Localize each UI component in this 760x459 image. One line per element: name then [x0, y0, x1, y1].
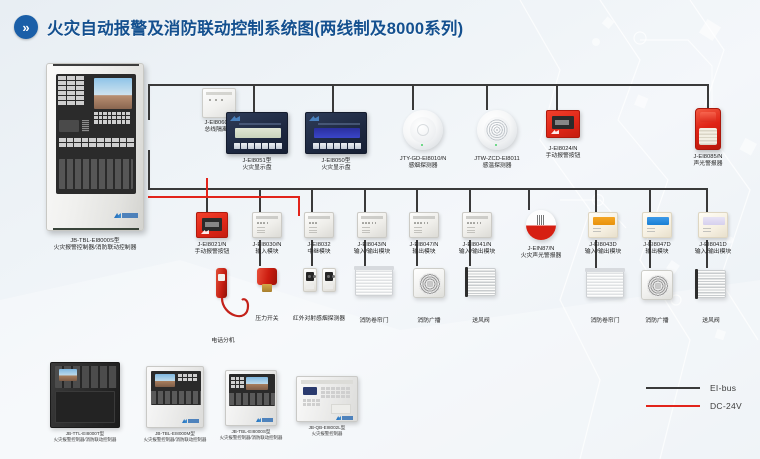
legend-line-bus	[646, 387, 700, 389]
legend-line-power	[646, 405, 700, 407]
brand-wordmark	[122, 213, 138, 218]
wall-panel-keys[interactable]	[321, 387, 350, 398]
device-name: 消防卷帘门	[591, 318, 620, 325]
printer-slot	[59, 120, 79, 132]
device-name: 输入/输出模块	[695, 249, 731, 256]
device-io-module-8041[interactable]: J-EI8041/N 输入/输出模块	[454, 212, 500, 256]
bottom-panel-qb-8002l[interactable]: JB-QB-EI8002L型 火灾报警控制器	[288, 376, 366, 436]
device-broadcast-speaker-2[interactable]: 消防广播	[634, 270, 680, 325]
device-manual-call-point-8021[interactable]: J-EI8021/N 手动报警按钮	[189, 212, 235, 256]
device-heat-detector[interactable]: JTW-ZCD-EI8011 感温探测器	[462, 110, 532, 170]
mod-drop-9	[649, 188, 651, 212]
brand-logo	[256, 418, 273, 422]
power-trunk	[148, 196, 298, 198]
device-name: 消防卷帘门	[360, 318, 389, 325]
bottom-panel-ttl-8000t[interactable]: JB-TTL-EI8000T型 火灾报警控制器/消防联动控制器	[46, 362, 124, 442]
device-broadcast-speaker-1[interactable]: 消防广播	[406, 268, 452, 325]
device-io-module-8043[interactable]: J-EI8043/N 输入/输出模块	[349, 212, 395, 256]
output-module-icon	[409, 212, 439, 238]
bottom-panel-tbl-8000s[interactable]: JB-TBL-EI8000S型 火灾报警控制器/消防联动控制器	[212, 370, 290, 440]
console-lcd	[59, 369, 77, 381]
wall-panel-header	[301, 380, 353, 384]
rolling-shutter-icon	[586, 270, 624, 298]
device-name: 感温探测器	[474, 163, 520, 170]
panel-face	[56, 74, 136, 194]
heat-detector-icon	[477, 110, 517, 150]
bus-trunk-mid	[148, 188, 708, 190]
device-name: 火灾显示盘	[243, 165, 272, 172]
cabinet-rack	[151, 391, 201, 404]
bus-drop-4	[486, 84, 488, 110]
device-name: 输出模块	[643, 249, 670, 256]
cabinet-keys[interactable]	[231, 377, 244, 388]
device-name: 输入/输出模块	[354, 249, 390, 256]
panel-name: 火灾报警控制器	[309, 431, 346, 437]
device-name: 火灾显示盘	[322, 165, 351, 172]
bus-drop-5	[556, 84, 558, 110]
legend-item-ei-bus: EI-bus	[646, 383, 742, 393]
sounder-strobe-icon	[695, 108, 721, 150]
speaker-grill	[82, 120, 89, 132]
telephone-handset-icon	[216, 268, 230, 312]
air-valve-icon	[696, 270, 726, 298]
device-sounder-strobe-8085[interactable]: J-EI8085/N 声光警报器	[680, 108, 736, 168]
panel-base-trim	[53, 228, 139, 231]
annunciator-icon	[226, 112, 288, 154]
brand-wordmark	[262, 418, 273, 422]
speaker-icon	[641, 270, 673, 300]
brand-mark-icon	[256, 418, 261, 422]
device-io-module-8041d[interactable]: J-EI8041D 输入/输出模块	[688, 212, 738, 256]
device-name: 感烟探测器	[400, 163, 447, 170]
device-name: 送风阀	[472, 318, 489, 325]
mod-drop-2	[259, 188, 261, 212]
panel-name: 火灾报警控制器/消防联动控制器	[144, 437, 207, 443]
device-rolling-shutter-1[interactable]: 消防卷帘门	[348, 268, 400, 325]
power-drop-mcp	[206, 178, 208, 196]
device-name: 输出模块	[410, 249, 439, 256]
main-control-panel[interactable]: JB-TBL-EI8000S型 火灾报警控制器/消防联动控制器	[46, 63, 144, 233]
chevron-double-right-icon: »	[14, 15, 38, 39]
bus-trunk-top-right	[556, 84, 708, 86]
input-module-icon	[252, 212, 282, 238]
rolling-shutter-icon	[355, 268, 393, 296]
mod-drop-6	[469, 188, 471, 212]
bus-drop-2	[332, 84, 334, 112]
panel-name: 火灾报警控制器/消防联动控制器	[54, 437, 117, 443]
device-name: 压力开关	[255, 316, 278, 323]
annunciator-keys[interactable]	[234, 143, 282, 149]
panel-top-trim	[53, 63, 139, 66]
bus-riser-left	[148, 150, 150, 190]
floor-console-icon	[50, 362, 120, 428]
brand-logo	[114, 213, 138, 218]
panel-model: JB-QB-EI8002L型	[309, 425, 346, 431]
zone-led-matrix	[59, 138, 134, 147]
io-module-icon	[357, 212, 387, 238]
cabinet-keys[interactable]	[178, 374, 197, 381]
pressure-switch-icon	[257, 268, 277, 294]
legend-label: EI-bus	[710, 383, 736, 393]
device-name: 送风阀	[702, 318, 719, 325]
device-name: 声光警报器	[694, 161, 723, 168]
main-panel-caption: JB-TBL-EI8000S型 火灾报警控制器/消防联动控制器	[46, 238, 144, 252]
brand-wordmark	[342, 416, 353, 420]
device-smoke-detector[interactable]: JTY-GD-EI8010/N 感烟探测器	[388, 110, 458, 170]
device-name: 消防广播	[645, 318, 668, 325]
manual-call-point-icon	[546, 110, 580, 138]
device-name: 消防广播	[417, 318, 440, 325]
wall-panel-lcd	[303, 387, 317, 395]
brand-mark-icon	[114, 213, 121, 218]
device-name: 手动报警按钮	[195, 249, 230, 256]
brand-logo	[182, 419, 199, 423]
device-name: 输入模块	[253, 249, 282, 256]
air-valve-icon	[466, 268, 496, 296]
legend: EI-bus DC-24V	[646, 383, 742, 411]
brand-logo	[336, 416, 353, 420]
device-name: 输入/输出模块	[459, 249, 495, 256]
left-key-matrix[interactable]	[58, 76, 84, 105]
bus-drop-6	[707, 84, 709, 108]
brand-wordmark	[188, 419, 199, 423]
annunciator-display	[314, 128, 360, 138]
device-name: 手动报警按钮	[546, 153, 581, 160]
device-manual-call-point-8024[interactable]: J-EI8024/N 手动报警按钮	[532, 110, 594, 160]
device-name: 红外对射感烟探测器	[293, 316, 345, 323]
cabinet-panel-icon	[146, 366, 204, 428]
wall-panel-blank	[331, 404, 351, 414]
mod-drop-10	[706, 188, 708, 212]
io-module-d-icon	[698, 212, 728, 238]
bus-drop-panel	[148, 84, 150, 120]
device-dome-alarm-ein87[interactable]: J-EIN87/N 火灾声光警报器	[510, 210, 572, 260]
cabinet-lcd	[246, 377, 268, 390]
device-name: 电话分机	[211, 338, 234, 345]
bus-drop-1	[253, 84, 255, 112]
wall-panel-zone-keys[interactable]	[303, 399, 320, 406]
device-output-module-8047d[interactable]: J-EI8047D 输出模块	[632, 212, 682, 256]
cabinet-lcd	[155, 374, 175, 387]
io-module-icon	[462, 212, 492, 238]
wall-panel-icon	[296, 376, 358, 422]
annunciator-icon	[305, 112, 367, 154]
cabinet-rack	[229, 393, 275, 405]
mod-drop-8	[595, 188, 597, 212]
speaker-icon	[413, 268, 445, 298]
legend-label: DC-24V	[710, 401, 742, 411]
panel-enclosure	[46, 63, 144, 231]
device-name: 中继模块	[307, 249, 330, 256]
annunciator-keys[interactable]	[313, 143, 361, 149]
device-annunciator-8050[interactable]: J-EI8050型 火灾显示盘	[301, 112, 371, 172]
output-module-d-icon	[642, 212, 672, 238]
device-name: 输入/输出模块	[585, 249, 621, 256]
device-telephone-extension[interactable]: 电话分机	[196, 268, 250, 345]
dome-alarm-icon	[526, 210, 556, 240]
io-module-d-icon	[588, 212, 618, 238]
device-io-module-8043d[interactable]: J-EI8043D 输入/输出模块	[578, 212, 628, 256]
legend-item-dc24v: DC-24V	[646, 401, 742, 411]
device-name: 火灾声光警报器	[521, 253, 562, 260]
console-door	[55, 391, 115, 423]
device-pressure-switch[interactable]: 压力开关	[244, 268, 290, 323]
keypad-matrix[interactable]	[94, 112, 130, 124]
device-output-module-8047[interactable]: J-EI8047/N 输出模块	[401, 212, 447, 256]
smoke-detector-icon	[403, 110, 443, 150]
beam-detector-icon	[303, 268, 336, 292]
bottom-panel-tbl-8000m[interactable]: JB-TBL-EI8000M型 火灾报警控制器/消防联动控制器	[136, 366, 214, 442]
page-header: » 火灾自动报警及消防联动控制系统图(两线制及8000系列)	[0, 10, 463, 44]
mod-drop-3	[311, 188, 313, 212]
brand-mark-icon	[182, 419, 187, 423]
device-input-module-8030[interactable]: J-EI8030/N 输入模块	[244, 212, 290, 256]
cabinet-panel-icon	[225, 370, 277, 426]
loop-card-rack	[59, 159, 133, 189]
mod-drop-4	[364, 188, 366, 212]
panel-lcd-display	[94, 78, 132, 109]
device-annunciator-8051[interactable]: J-EI8051型 火灾显示盘	[222, 112, 292, 172]
bus-drop-3	[412, 84, 414, 110]
annunciator-display	[235, 128, 281, 138]
mod-drop-5	[416, 188, 418, 212]
device-beam-detector[interactable]: 红外对射感烟探测器	[290, 268, 348, 323]
manual-call-point-icon	[196, 212, 228, 238]
page-title: 火灾自动报警及消防联动控制系统图(两线制及8000系列)	[47, 15, 463, 39]
relay-module-icon	[304, 212, 334, 238]
panel-name: 火灾报警控制器/消防联动控制器	[220, 435, 283, 441]
device-air-valve-1[interactable]: 送风阀	[460, 268, 502, 325]
main-panel-name: 火灾报警控制器/消防联动控制器	[46, 245, 144, 252]
brand-mark-icon	[336, 416, 341, 420]
mod-drop-7	[528, 188, 530, 210]
device-rolling-shutter-2[interactable]: 消防卷帘门	[580, 270, 630, 325]
device-air-valve-2[interactable]: 送风阀	[690, 270, 732, 325]
device-relay-module-8032[interactable]: J-EI8032 中继模块	[296, 212, 342, 256]
